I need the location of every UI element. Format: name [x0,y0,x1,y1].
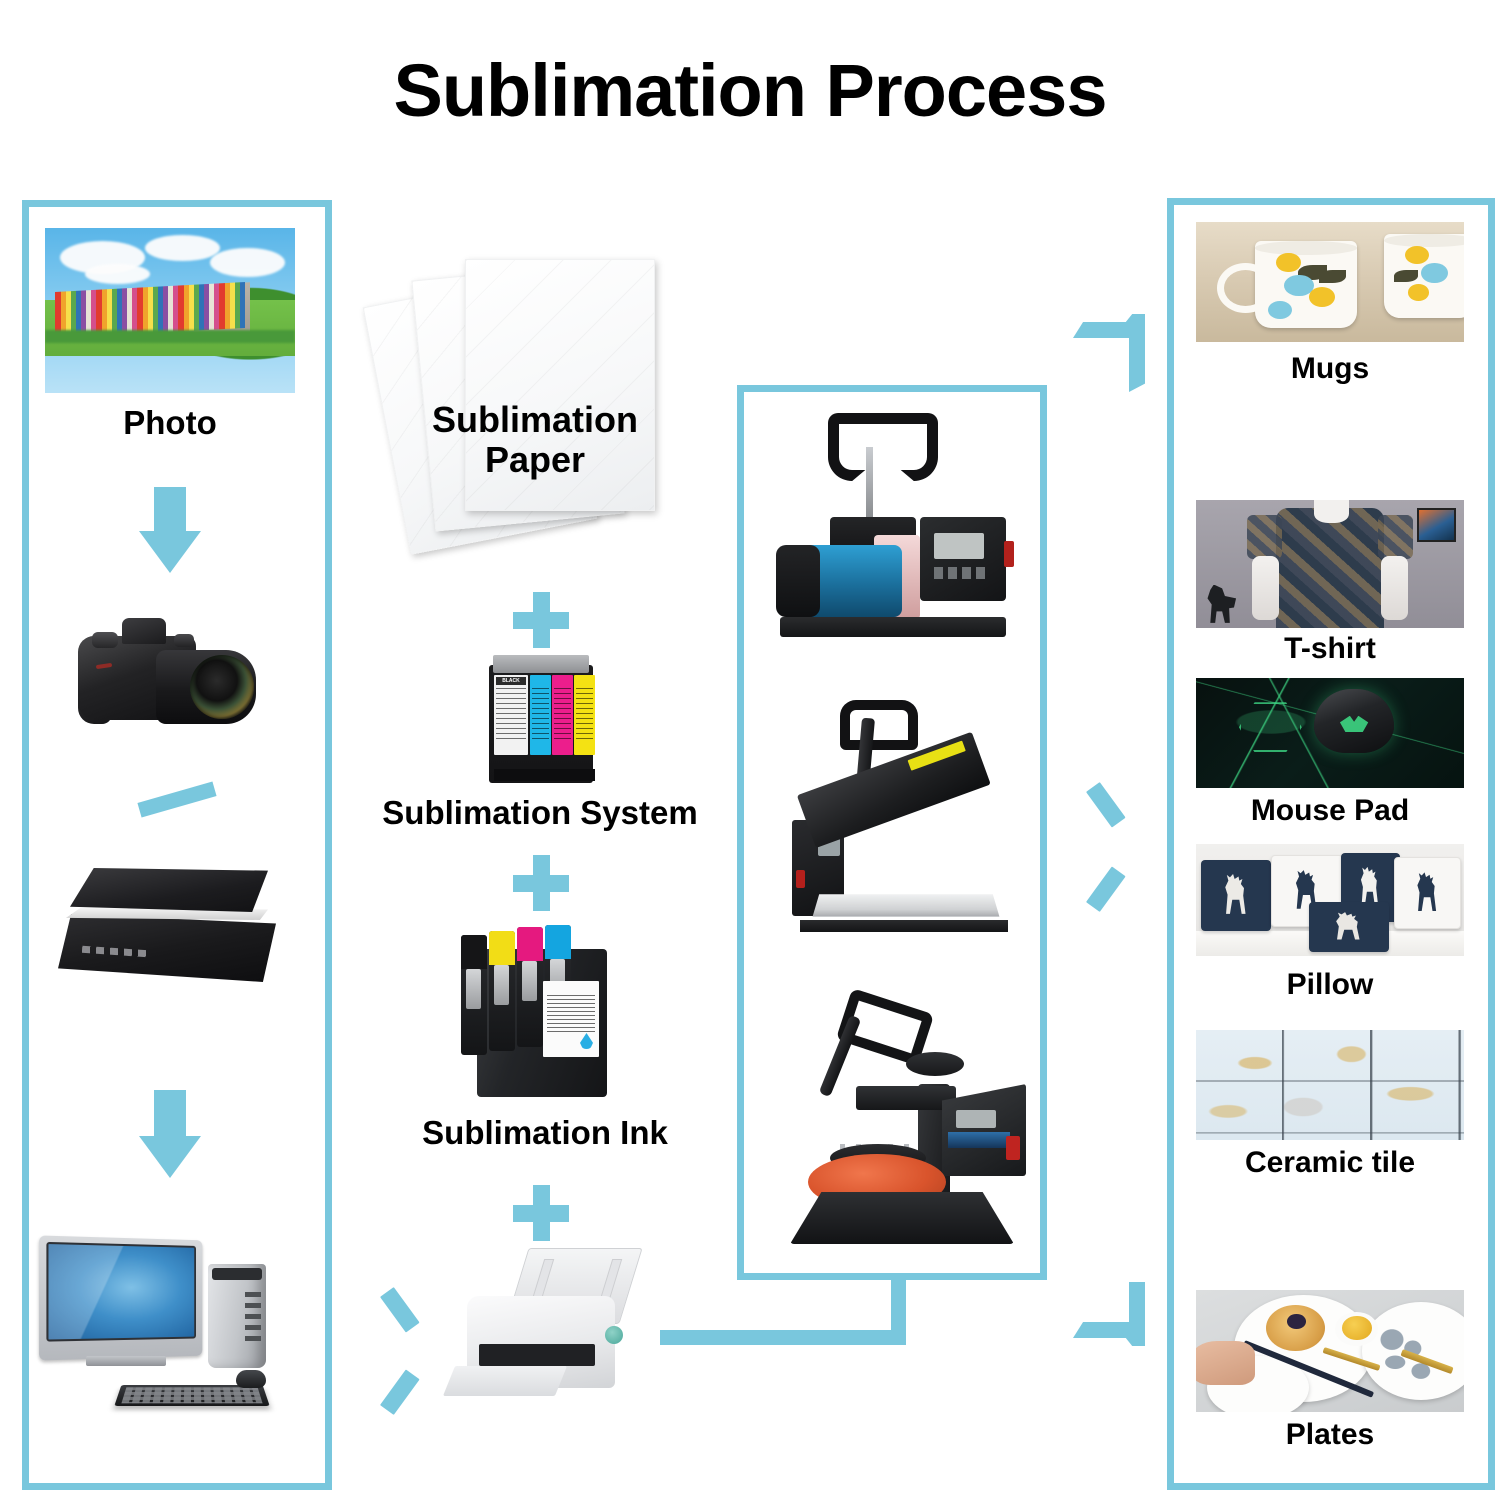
elbow-arrow-to-mugs [1073,306,1169,392]
ink-cartridge-set-image: BLACK [489,655,593,785]
tile-image [1196,1030,1464,1140]
scanner-image [52,868,282,992]
flat-heat-press-image [782,700,1022,950]
mugs-caption: Mugs [1180,352,1480,386]
camera-image [78,612,258,740]
sublimation-system-caption: Sublimation System [330,795,750,832]
chevron-press-to-products [1084,790,1136,862]
tile-caption: Ceramic tile [1180,1146,1480,1180]
sublimation-paper-caption: Sublimation Paper [385,400,685,481]
plus-system-ink [513,855,569,911]
pillow-caption: Pillow [1180,968,1480,1002]
plate-heat-press-image [782,1000,1032,1250]
photo-image [45,228,295,393]
plus-paper-system [513,592,569,648]
chevron-computer-to-printer [378,1295,436,1365]
printer-image [455,1248,645,1428]
computer-image [40,1230,300,1420]
pillow-image [1196,844,1464,956]
photo-caption: Photo [45,405,295,442]
tshirt-caption: T-shirt [1180,632,1480,666]
page-title: Sublimation Process [0,48,1500,133]
plates-caption: Plates [1180,1418,1480,1452]
arrow-photo-to-camera [137,487,203,573]
sublimation-ink-caption: Sublimation Ink [350,1115,740,1152]
plates-image [1196,1290,1464,1412]
mousepad-caption: Mouse Pad [1180,794,1480,828]
plus-ink-printer [513,1185,569,1241]
arrow-scanner-to-computer [137,1090,203,1180]
elbow-arrow-to-plates [1073,1282,1169,1368]
infographic-canvas: Sublimation Process Photo [0,0,1500,1500]
sublimation-ink-image [455,925,625,1100]
mugs-image [1196,222,1464,342]
mug-heat-press-image [770,405,1018,645]
printer-to-press-line [660,1330,906,1345]
printer-to-press-riser [891,1272,906,1342]
mousepad-image [1196,678,1464,788]
tshirt-image [1196,500,1464,628]
